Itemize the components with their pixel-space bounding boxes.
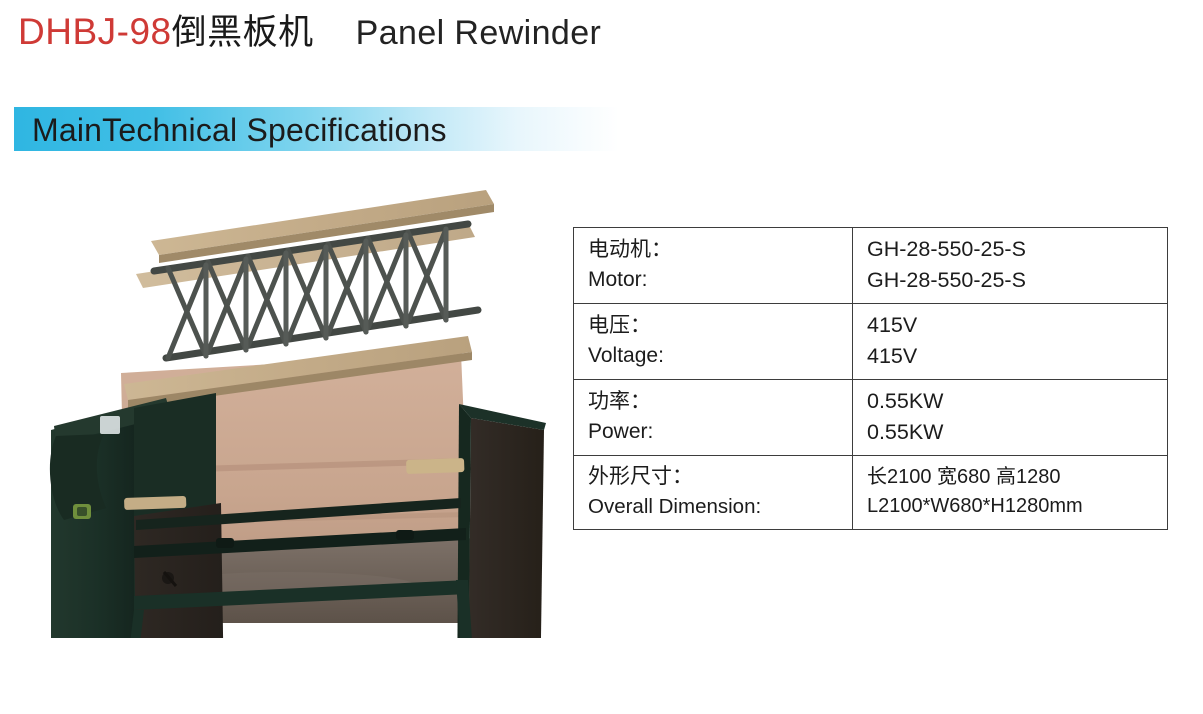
- label-cell-power: 功率： Power:: [574, 380, 853, 456]
- value-cell-dimension: 长2100 宽680 高1280 L2100*W680*H1280mm: [853, 456, 1168, 530]
- bar-bracket-left: [216, 538, 234, 548]
- machine-illustration: [16, 168, 556, 638]
- label-en-voltage: Voltage:: [588, 341, 852, 371]
- housing-highlight: [100, 416, 120, 434]
- label-cn-dimension: 外形尺寸：: [588, 462, 852, 492]
- value-cell-power: 0.55KW 0.55KW: [853, 380, 1168, 456]
- section-banner-label: MainTechnical Specifications: [32, 108, 447, 152]
- value-cn-dimension: 长2100 宽680 高1280: [867, 463, 1167, 491]
- title-english: Panel Rewinder: [314, 14, 602, 52]
- value-cell-motor: GH-28-550-25-S GH-28-550-25-S: [853, 228, 1168, 304]
- table-row-voltage: 电压： Voltage: 415V 415V: [574, 304, 1168, 380]
- value-cn-motor: GH-28-550-25-S: [867, 234, 1167, 265]
- table-row-dimension: 外形尺寸： Overall Dimension: 长2100 宽680 高128…: [574, 456, 1168, 530]
- label-cn-voltage: 电压：: [588, 311, 852, 341]
- label-cell-dimension: 外形尺寸： Overall Dimension:: [574, 456, 853, 530]
- value-cell-voltage: 415V 415V: [853, 304, 1168, 380]
- label-en-power: Power:: [588, 417, 852, 447]
- specifications-table: 电动机： Motor: GH-28-550-25-S GH-28-550-25-…: [573, 227, 1168, 530]
- title-chinese: 倒黑板机: [172, 13, 314, 52]
- value-en-dimension: L2100*W680*H1280mm: [867, 492, 1167, 520]
- table-row-power: 功率： Power: 0.55KW 0.55KW: [574, 380, 1168, 456]
- machine-product-photo: [16, 168, 556, 638]
- model-code: DHBJ-98: [18, 11, 172, 52]
- page-title: DHBJ-98倒黑板机Panel Rewinder: [18, 13, 601, 50]
- label-cn-power: 功率：: [588, 387, 852, 417]
- label-en-dimension: Overall Dimension:: [588, 492, 852, 521]
- table-row-motor: 电动机： Motor: GH-28-550-25-S GH-28-550-25-…: [574, 228, 1168, 304]
- value-en-motor: GH-28-550-25-S: [867, 265, 1167, 296]
- value-en-power: 0.55KW: [867, 417, 1167, 448]
- right-side-panel: [457, 404, 546, 638]
- label-cell-voltage: 电压： Voltage:: [574, 304, 853, 380]
- bar-bracket-right: [396, 530, 414, 540]
- label-cn-motor: 电动机：: [588, 235, 852, 265]
- value-en-voltage: 415V: [867, 341, 1167, 372]
- label-en-motor: Motor:: [588, 265, 852, 295]
- label-cell-motor: 电动机： Motor:: [574, 228, 853, 304]
- value-cn-voltage: 415V: [867, 310, 1167, 341]
- value-cn-power: 0.55KW: [867, 386, 1167, 417]
